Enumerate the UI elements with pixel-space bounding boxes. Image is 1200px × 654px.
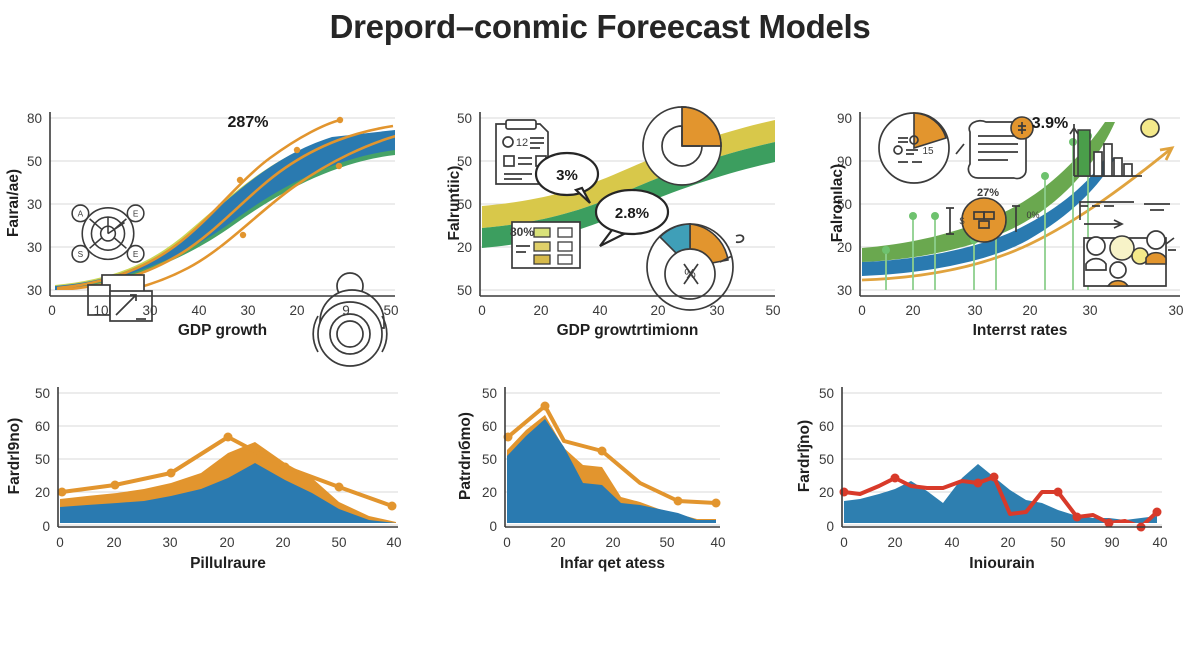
svg-text:0: 0 [48,303,56,318]
svg-text:30: 30 [1082,303,1097,318]
svg-text:E: E [133,210,139,219]
annotation-287: 287% [228,114,269,131]
svg-text:30: 30 [27,197,42,212]
x-axis-label-4: Pillulraure [58,555,398,573]
svg-text:40: 40 [944,535,959,550]
svg-text:40: 40 [191,303,206,318]
page-title: Drepord–conmic Foreecast Models [0,8,1200,46]
svg-text:27%: 27% [977,187,999,199]
chart-panel-interrst-rates: 15 $ 0% 27% [800,100,1200,345]
y-ticks-1: 80 50 30 30 30 [27,111,42,298]
y-axis-label-6: Fardrlĵno) [796,396,814,516]
chart-svg-3: 15 $ 0% 27% [800,100,1200,345]
svg-text:50: 50 [457,283,472,298]
svg-text:0: 0 [478,303,486,318]
svg-text:20: 20 [533,303,548,318]
blue-area [507,419,716,525]
chart-4-areas [60,442,396,525]
x-axis-label-5: Infar qet atess [505,555,720,573]
svg-text:30: 30 [27,240,42,255]
y-axis-label-4: Fardrl9no) [6,396,24,516]
svg-text:20: 20 [482,485,497,500]
svg-text:20: 20 [275,535,290,550]
svg-text:A: A [78,210,84,219]
svg-text:2.8%: 2.8% [615,205,649,222]
svg-text:15: 15 [922,146,934,157]
x-ticks-3: 0 20 30 20 30 30 [858,303,1183,318]
svg-text:80%: 80% [510,225,534,239]
svg-text:20: 20 [905,303,920,318]
svg-text:20: 20 [106,535,121,550]
chart-svg-4: 50 60 50 20 0 0 20 30 20 20 50 40 [0,375,400,615]
svg-text:90: 90 [837,111,852,126]
svg-text:30: 30 [837,283,852,298]
target-radar-icon: A E S E [72,205,144,262]
svg-text:30: 30 [1168,303,1183,318]
svg-text:80: 80 [27,111,42,126]
x-ticks-2: 0 20 40 20 30 50 [478,303,780,318]
svg-text:9: 9 [342,303,350,318]
svg-text:0: 0 [503,535,511,550]
svg-text:0: 0 [489,519,497,534]
svg-text:50: 50 [331,535,346,550]
chart-panel-gdp-growtrtimionn: 12 3% 2.8% [400,100,800,345]
bubble-28pct: 2.8% [596,190,668,246]
x-ticks-6: 0 20 40 20 50 90 40 [840,535,1167,550]
svg-text:20: 20 [35,485,50,500]
svg-text:20: 20 [550,535,565,550]
svg-text:30: 30 [27,283,42,298]
x-axis-label-2: GDP growtrtimionn [480,322,775,340]
svg-text:10: 10 [93,303,108,318]
chart-panel-iniourain: 50 60 50 20 0 0 20 40 20 50 90 40 Iniour… [800,375,1200,615]
svg-text:3%: 3% [556,167,578,184]
svg-text:12: 12 [516,137,528,149]
x-ticks-5: 0 20 20 50 40 [503,535,725,550]
annotation-39: 3.9% [1032,115,1068,132]
svg-text:50: 50 [819,386,834,401]
svg-text:20: 20 [1000,535,1015,550]
svg-text:50: 50 [383,303,398,318]
svg-text:60: 60 [35,419,50,434]
svg-text:20: 20 [1022,303,1037,318]
svg-text:50: 50 [35,452,50,467]
svg-text:0: 0 [42,519,50,534]
svg-text:50: 50 [765,303,780,318]
svg-text:30: 30 [709,303,724,318]
svg-text:$: $ [959,216,964,226]
svg-text:0: 0 [858,303,866,318]
svg-text:50: 50 [1050,535,1065,550]
svg-text:50: 50 [35,386,50,401]
document-coin-icon [956,117,1033,179]
svg-text:20: 20 [219,535,234,550]
svg-text:20: 20 [887,535,902,550]
chart-svg-1: A E S E [0,100,400,345]
svg-text:50: 50 [457,111,472,126]
svg-text:E: E [133,250,139,259]
y-ticks-5: 50 60 50 20 0 [482,386,497,534]
chart-svg-6: 50 60 50 20 0 0 20 40 20 50 90 40 [800,375,1200,615]
x-axis-label-6: Iniourain [842,555,1162,573]
svg-text:50: 50 [27,154,42,169]
y-axis-label-5: Patrdrıбmo) [457,396,475,516]
svg-text:30: 30 [142,303,157,318]
coin-pie-icon: % [647,224,744,310]
chart-panel-infar-qet-atess: 50 60 50 20 0 0 20 20 50 40 Infar qet at… [400,375,800,615]
chart-panel-gdp-growth: A E S E [0,100,400,345]
svg-text:0: 0 [840,535,848,550]
y-ticks-4: 50 60 50 20 0 [35,386,50,534]
y-axis-label-1: Faıraı/ae) [5,143,23,263]
x-ticks-1: 0 10 30 40 30 20 9 50 [48,303,398,318]
y-ticks-6: 50 60 50 20 0 [819,386,834,534]
svg-text:%: % [684,266,696,281]
svg-text:30: 30 [967,303,982,318]
svg-text:40: 40 [592,303,607,318]
svg-text:40: 40 [1152,535,1167,550]
svg-text:40: 40 [710,535,725,550]
svg-text:50: 50 [819,452,834,467]
x-ticks-4: 0 20 30 20 20 50 40 [56,535,401,550]
svg-text:20: 20 [289,303,304,318]
donut-person-icon [313,273,387,366]
y-axis-label-2: Falruntiic) [446,143,464,263]
svg-text:0: 0 [826,519,834,534]
svg-text:30: 30 [240,303,255,318]
svg-text:0: 0 [56,535,64,550]
svg-text:30: 30 [162,535,177,550]
svg-text:50: 50 [659,535,674,550]
legend-swatches-icon: 80% [510,222,580,268]
x-axis-label-3: Interrst rates [860,322,1180,340]
svg-text:50: 50 [482,452,497,467]
people-network-icon [1080,202,1176,286]
svg-text:20: 20 [605,535,620,550]
svg-text:20: 20 [819,485,834,500]
svg-text:S: S [78,250,84,259]
page-root: Drepord–conmic Foreecast Models [0,0,1200,654]
pie-list-icon: 15 [879,113,949,183]
svg-text:90: 90 [1104,535,1119,550]
svg-text:60: 60 [819,419,834,434]
svg-text:60: 60 [482,419,497,434]
chart-5-areas [507,415,716,525]
svg-text:50: 50 [482,386,497,401]
donut-chart-icon [643,107,721,185]
svg-text:0%: 0% [1026,210,1039,220]
chart-panel-pillulraure: 50 60 50 20 0 0 20 30 20 20 50 40 Pillul… [0,375,400,615]
x-axis-label-1: GDP growth [50,322,395,340]
svg-text:20: 20 [650,303,665,318]
y-axis-label-3: Falronılac) [829,143,847,263]
